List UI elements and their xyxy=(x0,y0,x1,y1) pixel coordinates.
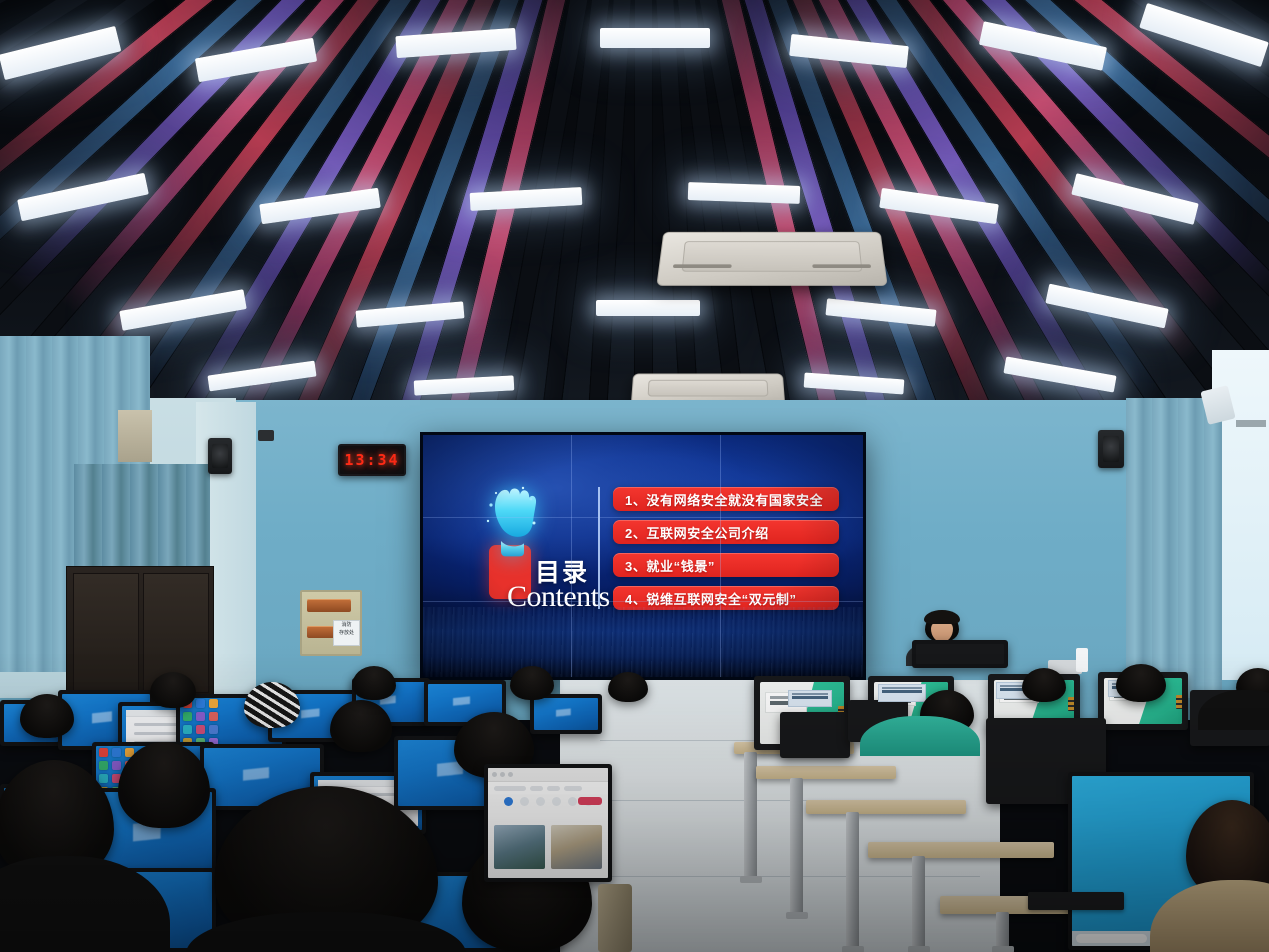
desk-foot xyxy=(908,946,930,952)
panel-seam xyxy=(423,601,863,602)
student-head xyxy=(1022,668,1066,702)
desktop-icon-grid[interactable] xyxy=(1077,781,1130,937)
windows-logo-icon xyxy=(301,708,326,722)
category-icon[interactable] xyxy=(552,797,561,806)
student-head xyxy=(1116,664,1166,702)
desktop-icon[interactable] xyxy=(112,748,121,757)
desk xyxy=(806,800,966,814)
ac-vent xyxy=(673,264,732,268)
browser-card[interactable] xyxy=(494,825,545,869)
wall-box xyxy=(118,410,152,462)
monitor-screen[interactable] xyxy=(534,698,598,730)
desk xyxy=(868,842,1054,858)
instructor-monitor[interactable] xyxy=(912,640,1008,668)
taskbar-search-input[interactable] xyxy=(1076,934,1147,943)
category-icon[interactable] xyxy=(520,797,529,806)
desktop-icon[interactable] xyxy=(196,699,205,708)
window-latch xyxy=(1236,420,1266,427)
desk-foot xyxy=(740,876,762,883)
instructor-hair xyxy=(924,610,960,624)
waste-bin xyxy=(598,884,632,952)
student-head xyxy=(20,694,74,738)
browser-nav-row xyxy=(488,782,608,794)
monitor-rear[interactable] xyxy=(780,712,850,758)
ac-vent xyxy=(812,264,871,268)
desktop-icon[interactable] xyxy=(196,725,205,734)
curtain-right xyxy=(1126,398,1222,698)
port-cluster xyxy=(1068,697,1074,711)
desk-leg xyxy=(846,812,859,952)
desk xyxy=(756,766,896,779)
monitor-id-label xyxy=(788,690,832,707)
desktop-icon[interactable] xyxy=(183,712,192,721)
tissue-box xyxy=(1076,648,1088,672)
student-monitor[interactable] xyxy=(530,694,602,734)
desktop-icon-grid[interactable] xyxy=(183,699,214,743)
ceiling-light xyxy=(596,300,700,316)
desk-leg xyxy=(790,778,803,918)
browser-chrome-bar xyxy=(488,768,608,782)
desktop-icon[interactable] xyxy=(196,712,205,721)
category-icon[interactable] xyxy=(536,797,545,806)
ceiling-light xyxy=(600,28,710,48)
browser-nav-item[interactable] xyxy=(530,786,543,791)
desk-leg xyxy=(912,856,925,952)
student-head xyxy=(244,682,300,728)
digital-wall-clock: 13:34 xyxy=(338,444,406,476)
panel-seam xyxy=(423,517,863,518)
video-wall-screen: 目录 Contents 1、没有网络安全就没有国家安全 2、互联网安全公司介绍 … xyxy=(423,435,863,677)
windows-logo-icon xyxy=(243,766,278,785)
browser-nav-item[interactable] xyxy=(547,786,560,791)
desktop-icon[interactable] xyxy=(112,761,121,770)
fire-hose-reel xyxy=(307,599,351,612)
fire-cabinet-sign: 消防 存放处 xyxy=(333,620,360,646)
air-conditioner-unit xyxy=(656,232,887,286)
led-video-wall[interactable]: 目录 Contents 1、没有网络安全就没有国家安全 2、互联网安全公司介绍 … xyxy=(420,432,866,680)
browser-card[interactable] xyxy=(551,825,602,869)
desktop-icon[interactable] xyxy=(99,774,108,783)
windows-logo-icon xyxy=(556,708,575,718)
student-head xyxy=(150,672,196,708)
student-monitor-browser[interactable] xyxy=(484,764,612,882)
screen-vignette xyxy=(423,435,863,677)
browser-logo xyxy=(494,786,526,791)
desktop-icon[interactable] xyxy=(209,725,218,734)
desktop-icon[interactable] xyxy=(183,725,192,734)
desktop-icon[interactable] xyxy=(209,699,218,708)
browser-dot xyxy=(500,772,505,777)
desk-foot xyxy=(786,912,808,919)
desktop-icon[interactable] xyxy=(99,761,108,770)
windows-logo-icon xyxy=(92,710,118,726)
student-head xyxy=(352,666,396,700)
browser-card-list xyxy=(494,825,602,869)
browser-nav-item[interactable] xyxy=(564,786,581,791)
student-head xyxy=(608,672,648,702)
student-head xyxy=(510,666,554,700)
monitor-id-label xyxy=(878,684,926,702)
cabinet-door[interactable] xyxy=(73,573,139,693)
fire-sign-line2: 存放处 xyxy=(334,629,359,637)
windows-logo-icon xyxy=(453,696,475,708)
desktop-icon[interactable] xyxy=(209,712,218,721)
wall-speaker-right xyxy=(1098,430,1124,468)
student-head xyxy=(330,700,392,752)
browser-dot xyxy=(492,772,497,777)
ceiling-slat xyxy=(634,0,653,430)
panel-seam xyxy=(720,435,721,677)
desk-foot xyxy=(992,946,1014,952)
wall-speaker-left xyxy=(208,438,232,474)
ac-grille xyxy=(648,380,769,397)
desk-foot xyxy=(842,946,864,952)
ceiling xyxy=(0,0,1269,430)
security-camera-icon xyxy=(258,430,274,441)
panel-seam xyxy=(571,435,572,677)
fire-sign-line1: 消防 xyxy=(334,621,359,629)
browser-dot xyxy=(508,772,513,777)
browser-window[interactable] xyxy=(488,768,608,878)
clock-time: 13:34 xyxy=(344,451,399,469)
port-cluster xyxy=(1176,695,1182,709)
fire-hose-cabinet: 消防 存放处 xyxy=(300,590,362,656)
instructor-monitor-screen xyxy=(916,644,1004,664)
category-icon[interactable] xyxy=(504,797,513,806)
keyboard[interactable] xyxy=(1028,892,1124,910)
category-icon[interactable] xyxy=(568,797,577,806)
desktop-icon[interactable] xyxy=(99,748,108,757)
ceiling-light xyxy=(688,182,801,204)
classroom-photo-scene: 13:34 消防 存放处 xyxy=(0,0,1269,952)
browser-cta-button[interactable] xyxy=(578,797,602,805)
